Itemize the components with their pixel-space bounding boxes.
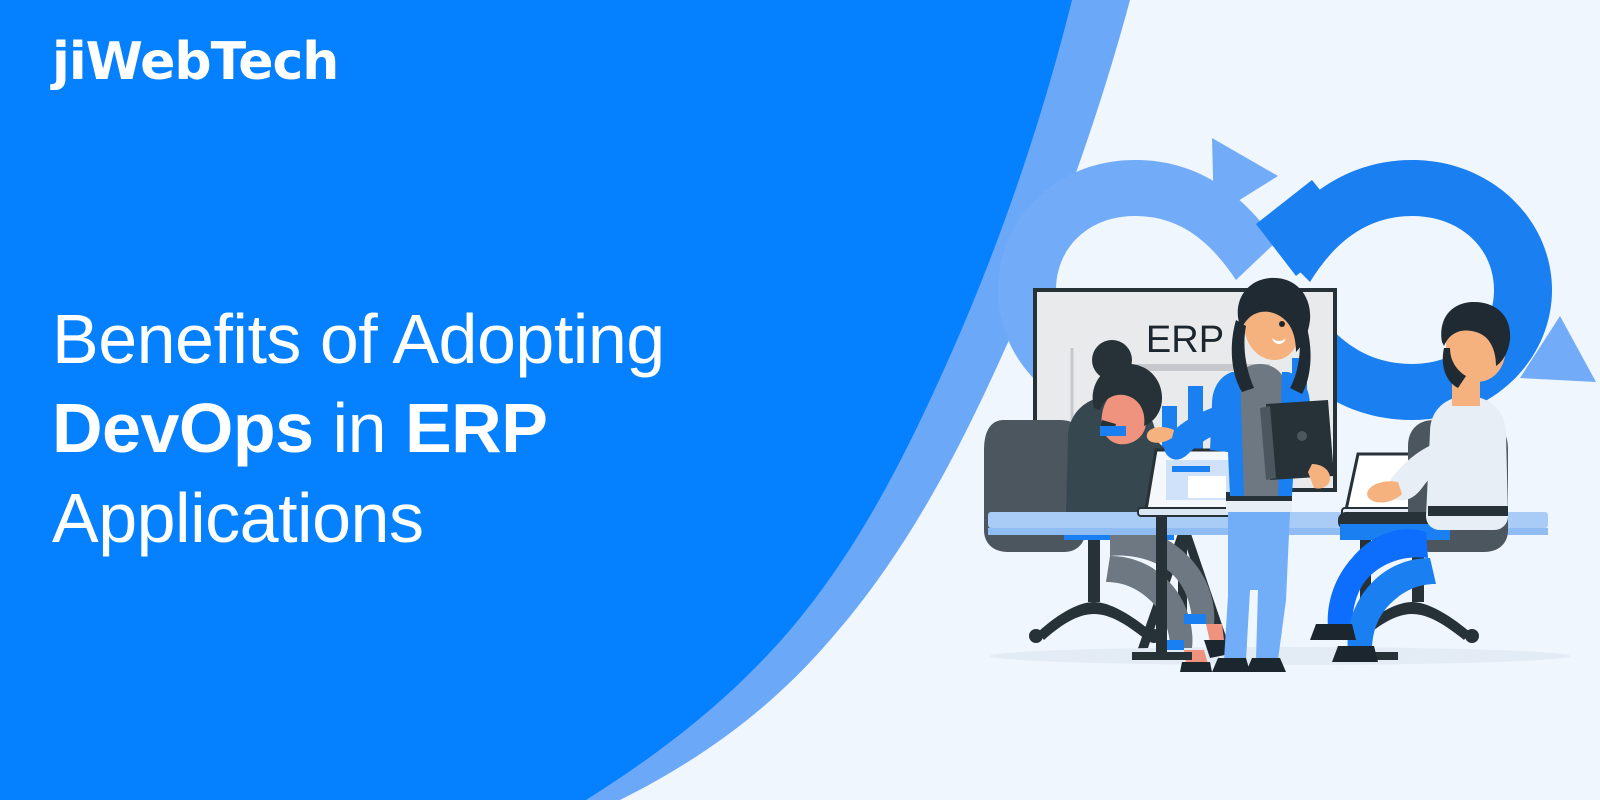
headline-connector: in — [314, 389, 405, 467]
page-title: Benefits of Adopting DevOps in ERP Appli… — [52, 295, 882, 564]
headline-emphasis-erp: ERP — [405, 389, 547, 467]
headline-line-2: DevOps in ERP — [52, 384, 882, 474]
table-leg-left — [1156, 512, 1167, 660]
brand-logo[interactable]: jiWebTech — [52, 36, 338, 88]
headline-emphasis-devops: DevOps — [52, 389, 314, 467]
headline-line-3: Applications — [52, 474, 882, 564]
promotional-banner: jiWebTech Benefits of Adopting DevOps in… — [0, 0, 1600, 800]
headline-line-1: Benefits of Adopting — [52, 295, 882, 385]
meeting-illustration: ERP — [960, 120, 1600, 700]
whiteboard-title: ERP — [1146, 319, 1224, 361]
